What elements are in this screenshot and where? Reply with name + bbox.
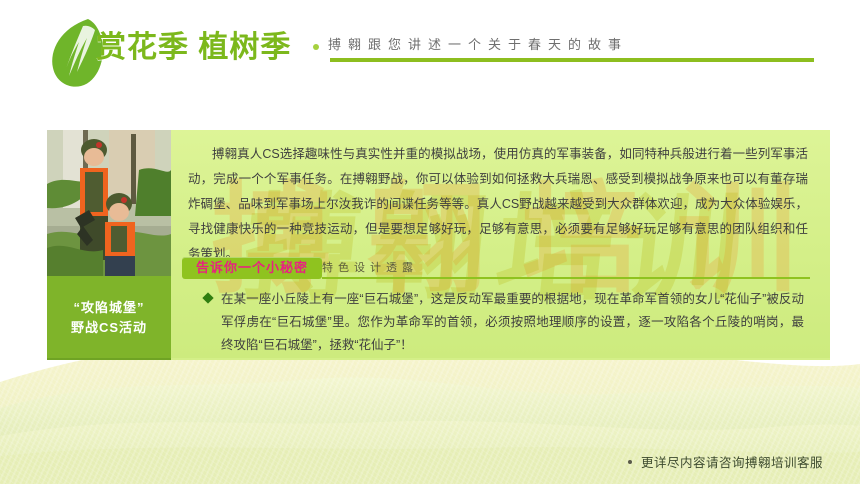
header-subtitle: 搏翱跟您讲述一个关于春天的故事 <box>328 34 628 53</box>
panel-body-text: 搏翱真人CS选择趣味性与真实性并重的模拟战场，使用仿真的军事装备，如同特种兵般进… <box>188 142 808 267</box>
cs-activity-photo <box>47 130 171 276</box>
photo-caption-line2: 野战CS活动 <box>71 319 147 336</box>
content-panel: 搏翱培训 搏翱培训 搏翱真人CS选择趣味性与真实性并重的模拟战场，使用仿真的军事… <box>166 130 830 358</box>
page-header: 赏花季 植树季 搏翱跟您讲述一个关于春天的故事 <box>0 0 860 100</box>
secret-divider <box>322 277 810 279</box>
secret-row: 告诉你一个小秘密 特色设计透露 <box>182 257 816 279</box>
page-title: 赏花季 植树季 <box>96 22 291 66</box>
photo-card: “攻陷城堡” 野战CS活动 <box>47 130 171 358</box>
dot-icon <box>313 44 319 50</box>
photo-caption: “攻陷城堡” 野战CS活动 <box>47 276 171 358</box>
dot-icon <box>628 460 632 464</box>
bullet-item: 在某一座小丘陵上有一座“巨石城堡”，这是反动军最重要的根据地，现在革命军首领的女… <box>204 288 804 357</box>
photo-caption-line1: “攻陷城堡” <box>73 299 144 316</box>
secret-badge[interactable]: 告诉你一个小秘密 <box>182 257 322 279</box>
secret-subtitle: 特色设计透露 <box>322 258 418 278</box>
page-footer: 更详尽内容请咨询搏翱培训客服 <box>628 452 823 471</box>
diamond-bullet-icon <box>202 292 213 303</box>
bullet-text: 在某一座小丘陵上有一座“巨石城堡”，这是反动军最重要的根据地，现在革命军首领的女… <box>221 288 804 357</box>
footer-text: 更详尽内容请咨询搏翱培训客服 <box>641 452 823 471</box>
header-divider <box>330 58 814 62</box>
